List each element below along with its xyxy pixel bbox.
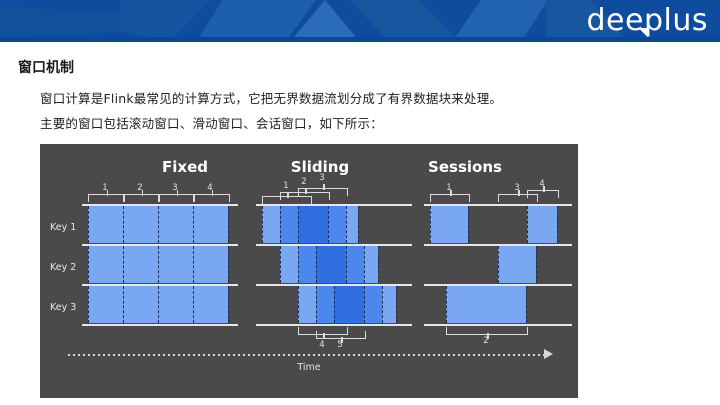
sessions-bracket-number-1: 1 (442, 183, 456, 193)
sliding-divider (346, 206, 347, 243)
sessions-bracket-number-2: 2 (479, 336, 493, 346)
sliding-block-key2-d (346, 246, 364, 283)
column-title-fixed: Fixed (120, 158, 250, 176)
fixed-divider (158, 286, 159, 323)
sliding-block-key2-a (280, 246, 298, 283)
fixed-bracket-4 (193, 194, 230, 202)
sliding-bracket-number-5: 5 (333, 340, 347, 350)
sliding-block-key3-d (364, 286, 382, 323)
fixed-divider (88, 206, 89, 243)
sliding-block-key3-b (316, 286, 334, 323)
time-axis-label: Time (40, 362, 578, 373)
sliding-divider (328, 206, 329, 243)
fixed-divider (123, 286, 124, 323)
fixed-divider (193, 246, 194, 283)
key-label-1: Key 1 (50, 222, 76, 233)
time-axis-line (68, 354, 544, 356)
sessions-block-key1-b (527, 206, 557, 243)
fixed-bracket-number-1: 1 (98, 183, 112, 193)
column-title-sessions: Sessions (390, 158, 540, 176)
sliding-divider (346, 246, 347, 283)
sliding-divider (298, 246, 299, 283)
sliding-block-key2-c (316, 246, 346, 283)
banner-decoration-shape (0, 0, 132, 42)
fixed-divider (228, 246, 229, 283)
sessions-divider (430, 206, 431, 243)
sliding-block-key1-c (298, 206, 328, 243)
sliding-block-key3-c (334, 286, 364, 323)
fixed-bracket-number-2: 2 (133, 183, 147, 193)
sliding-block-key3-e (382, 286, 396, 323)
sliding-block-key1-b (280, 206, 298, 243)
fixed-divider (228, 286, 229, 323)
sessions-row-line-bottom (424, 324, 572, 326)
sessions-divider (446, 286, 447, 323)
sliding-divider (334, 286, 335, 323)
sliding-block-key1-a (262, 206, 280, 243)
sliding-divider (364, 286, 365, 323)
sliding-divider (364, 246, 365, 283)
fixed-bracket-3 (158, 194, 195, 202)
sliding-divider (316, 246, 317, 283)
deeplus-logo: deeplus (587, 4, 708, 38)
fixed-divider (123, 246, 124, 283)
fixed-bracket-number-4: 4 (203, 183, 217, 193)
body-paragraph-2: 主要的窗口包括滚动窗口、滑动窗口、会话窗口，如下所示： (40, 113, 383, 132)
fixed-divider (158, 246, 159, 283)
fixed-divider (228, 206, 229, 243)
sessions-divider (498, 246, 499, 283)
sliding-divider (262, 206, 263, 243)
sessions-block-key3-a (446, 286, 526, 323)
fixed-divider (123, 206, 124, 243)
sliding-divider (280, 246, 281, 283)
sliding-divider (316, 286, 317, 323)
header-banner: deeplus (0, 0, 720, 42)
fixed-bracket-number-3: 3 (168, 183, 182, 193)
sliding-bracket-5 (316, 331, 366, 339)
fixed-divider (88, 286, 89, 323)
sessions-divider (527, 206, 528, 243)
sessions-bracket-1 (430, 194, 470, 202)
sliding-block-key2-b (298, 246, 316, 283)
sliding-block-key2-e (364, 246, 378, 283)
sliding-block-key1-d (328, 206, 346, 243)
sliding-bracket-number-4: 4 (315, 340, 329, 350)
key-label-2: Key 2 (50, 262, 76, 273)
sessions-bracket-4 (527, 190, 559, 198)
sliding-bracket-number-1: 1 (279, 181, 293, 191)
sessions-bracket-2 (446, 327, 528, 335)
sliding-bracket-3 (298, 188, 348, 196)
key-label-3: Key 3 (50, 302, 76, 313)
fixed-bracket-1 (88, 194, 125, 202)
banner-decoration-shape (350, 0, 460, 42)
fixed-bracket-2 (123, 194, 160, 202)
banner-decoration-shape (452, 0, 548, 42)
sessions-block-key1-a (430, 206, 468, 243)
fixed-divider (158, 206, 159, 243)
sessions-bracket-number-4: 4 (535, 179, 549, 189)
sliding-bracket-number-2: 2 (297, 177, 311, 187)
sliding-block-key1-e (346, 206, 358, 243)
window-mechanism-diagram: Fixed Sliding Sessions Key 1 Key 2 Key 3… (40, 144, 578, 398)
time-axis-arrow-icon (544, 349, 553, 359)
sliding-divider (298, 286, 299, 323)
sliding-divider (298, 206, 299, 243)
fixed-divider (193, 206, 194, 243)
sliding-divider (280, 206, 281, 243)
sliding-divider (378, 246, 379, 283)
sliding-bracket-number-3: 3 (315, 173, 329, 183)
banner-decoration-shape (120, 0, 210, 42)
body-paragraph-1: 窗口计算是Flink最常见的计算方式，它把无界数据流划分成了有界数据块来处理。 (40, 88, 502, 107)
sessions-divider (468, 206, 469, 243)
sessions-divider (526, 286, 527, 323)
sessions-divider (557, 206, 558, 243)
sliding-divider (382, 286, 383, 323)
sessions-bracket-number-3: 3 (510, 183, 524, 193)
page-title: 窗口机制 (18, 57, 74, 77)
sliding-divider (396, 286, 397, 323)
sessions-divider (536, 246, 537, 283)
sliding-row-line-bottom (256, 324, 412, 326)
fixed-divider (88, 246, 89, 283)
fixed-divider (193, 286, 194, 323)
sessions-block-key2-a (498, 246, 536, 283)
sliding-divider (358, 206, 359, 243)
sliding-block-key3-a (298, 286, 316, 323)
fixed-row-line-bottom (82, 324, 238, 326)
